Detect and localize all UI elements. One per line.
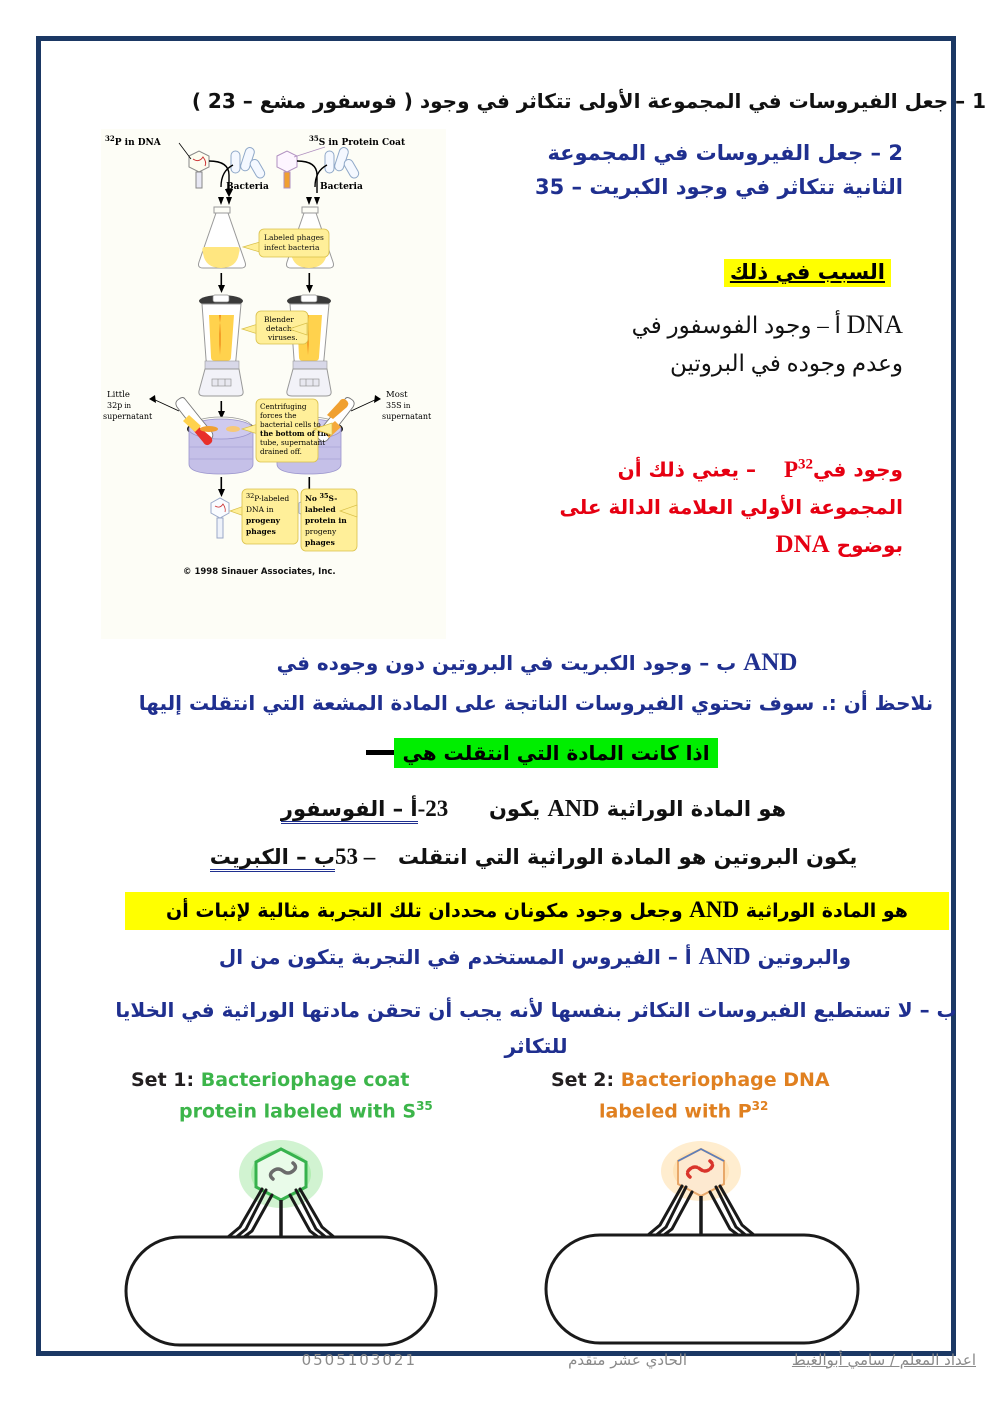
green-question-row: اذا كانت المادة التي انتقلت هي — [81, 741, 991, 765]
svg-text:progeny: progeny — [305, 527, 337, 536]
footer-grade: الحادي عشر متقدم — [568, 1351, 687, 1369]
yellow-conclusion-band: هو المادة الوراثية DNA وجعل وجود مكونان … — [125, 892, 949, 930]
option-b-label: ب – الكبريت — [210, 845, 335, 872]
svg-text:Little: Little — [107, 390, 130, 400]
dna-label: DNA — [699, 944, 751, 970]
observation-line: نلاحظ أن :. سوف تحتوي الفيروسات الناتجة … — [81, 691, 991, 715]
footer-phone: 0505103021 — [302, 1351, 417, 1369]
page-frame: 1 – جعل الفيروسات في المجموعة الأولى تتك… — [36, 36, 956, 1356]
svg-text:Most: Most — [386, 390, 408, 400]
phage-set-2 — [546, 1141, 858, 1343]
svg-text:Blender: Blender — [264, 315, 294, 324]
svg-text:Labeled phages: Labeled phages — [264, 233, 324, 242]
dna-label: DNA — [689, 897, 739, 922]
svg-text:32pin: 32pin — [107, 401, 132, 410]
yellow-pre: وجعل وجود مكونان محددان تلك التجربة مثال… — [166, 900, 683, 922]
svg-text:infect bacteria: infect bacteria — [264, 243, 320, 252]
footer-teacher: اعداد المعلم / سامي أبوالغيط — [792, 1351, 976, 1369]
conclusion-a-post: والبروتين — [758, 945, 852, 969]
option-b-number: – 35 — [335, 844, 375, 869]
middle-point-b-text: ب – وجود الكبريت في البروتين دون وجوده ف… — [277, 651, 737, 675]
reason-point-a-line-1: DNA أ – وجود الفوسفور في — [483, 306, 903, 345]
red-note-line-3: بوضوح DNA — [483, 526, 903, 564]
red-note-line-3-post: بوضوح — [837, 533, 903, 557]
header-item-1: 1 – جعل الفيروسات في المجموعة الأولى تتك… — [161, 89, 986, 113]
yellow-post: هو المادة الوراثية — [746, 900, 908, 922]
isotope-p32-label: P32 — [784, 457, 813, 482]
svg-text:phages: phages — [305, 538, 335, 547]
svg-text:35Sin: 35Sin — [386, 401, 411, 410]
hershey-chase-diagram: 32P in DNA 35S in Protein Coat — [101, 129, 446, 639]
red-note-line-1: وجود فيP32 – يعني ذلك أن — [483, 446, 903, 489]
page-footer: اعداد المعلم / سامي أبوالغيط الحادي عشر … — [87, 1331, 982, 1381]
svg-text:Bacteria: Bacteria — [320, 182, 363, 192]
svg-text:bacterial cells to: bacterial cells to — [260, 420, 321, 429]
conclusion-point-b: ب – لا تستطيع الفيروسات التكاثر بنفسها ل… — [81, 992, 991, 1064]
svg-text:tube, supernatant: tube, supernatant — [260, 438, 325, 447]
svg-text:viruses.: viruses. — [267, 333, 298, 342]
option-a-rest-pre: يكون — [489, 797, 540, 821]
svg-text:forces the: forces the — [260, 411, 296, 420]
red-note-line-1-pre: – يعني ذلك أن — [618, 458, 756, 482]
svg-text:Centrifuging: Centrifuging — [260, 402, 307, 411]
green-question: اذا كانت المادة التي انتقلت هي — [394, 738, 717, 768]
svg-text:DNA in: DNA in — [246, 505, 274, 514]
dna-label: DNA — [776, 531, 830, 558]
dash-mark — [366, 750, 394, 755]
svg-text:drained off.: drained off. — [260, 447, 302, 456]
svg-text:Bacteria: Bacteria — [226, 182, 269, 192]
svg-text:supernatant: supernatant — [103, 412, 153, 421]
svg-text:progeny: progeny — [246, 516, 281, 525]
dna-label: DNA — [743, 649, 797, 676]
header-item-2-line-2: الثانية تتكاثر في وجود الكبريت – 35 — [473, 170, 903, 204]
dna-label: DNA — [847, 310, 903, 339]
conclusion-a-pre: أ – الفيروس المستخدم في التجربة يتكون من… — [219, 945, 692, 969]
option-a-rest-post: هو المادة الوراثية — [607, 797, 786, 821]
reason-heading: السبب في ذلك — [724, 259, 891, 287]
svg-text:supernatant: supernatant — [382, 412, 432, 421]
svg-text:phages: phages — [246, 527, 276, 536]
red-note-line-2: المجموعة الأولي العلامة الدالة على — [483, 489, 903, 526]
svg-text:protein in: protein in — [305, 516, 347, 525]
reason-point-a-text: أ – وجود الفوسفور في — [632, 313, 841, 338]
svg-text:© 1998 Sinauer Associates, Inc: © 1998 Sinauer Associates, Inc. — [183, 567, 336, 577]
header-item-2: 2 – جعل الفيروسات في المجموعة الثانية تت… — [473, 136, 903, 204]
phage-set-1 — [126, 1140, 436, 1345]
option-b-row: يكون البروتين هو المادة الوراثية التي ان… — [81, 844, 986, 870]
option-a-row: هو المادة الوراثية DNA يكون 32-أ – الفوس… — [81, 796, 986, 823]
phage-sets-figure: Set 1: Bacteriophage coat protein labele… — [96, 1059, 956, 1359]
dna-label: DNA — [547, 796, 599, 822]
header-item-2-line-1: 2 – جعل الفيروسات في المجموعة — [473, 136, 903, 170]
svg-text:labeled: labeled — [305, 505, 336, 514]
conclusion-point-a: والبروتين DNA أ – الفيروس المستخدم في ال… — [85, 944, 985, 971]
middle-point-b: DNA ب – وجود الكبريت في البروتين دون وجو… — [87, 649, 987, 677]
reason-point-a-line-2: وعدم وجوده في البروتين — [483, 345, 903, 383]
header-item-1-text: 1 – جعل الفيروسات في المجموعة الأولى تتك… — [192, 89, 986, 113]
option-a-number: 32- — [418, 796, 449, 821]
red-note-line-1-post: وجود في — [813, 458, 903, 482]
option-b-rest: يكون البروتين هو المادة الوراثية التي ان… — [398, 845, 857, 869]
conclusion-b-line-1: ب – لا تستطيع الفيروسات التكاثر بنفسها ل… — [81, 992, 991, 1028]
red-conclusion-note: وجود فيP32 – يعني ذلك أن المجموعة الأولي… — [483, 446, 903, 564]
reason-point-a: DNA أ – وجود الفوسفور في وعدم وجوده في ا… — [483, 306, 903, 383]
option-a-label: أ – الفوسفور — [281, 797, 418, 824]
